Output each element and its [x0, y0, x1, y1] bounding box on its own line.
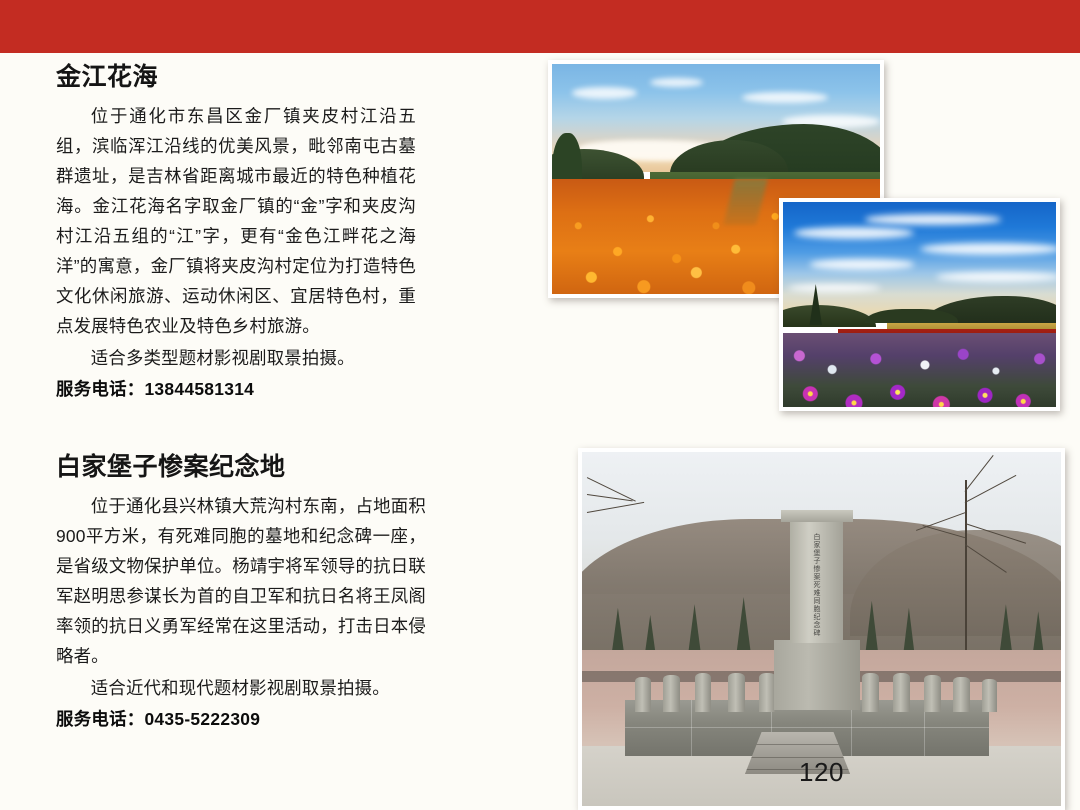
- memorial-pillar: [893, 673, 910, 712]
- photo-purple-aster-field: [779, 198, 1060, 411]
- photo-monument-canvas: 白家堡子惨案死难同胞纪念碑: [582, 452, 1061, 806]
- step-edge: [748, 757, 847, 758]
- cloud-wisp: [572, 87, 638, 99]
- memorial-pillar: [695, 673, 712, 712]
- cloud-wisp: [742, 92, 827, 104]
- cloud-wisp: [936, 272, 1056, 282]
- memorial-pillar: [924, 675, 940, 712]
- memorial-pillar: [635, 677, 651, 712]
- memorial-pillar: [953, 677, 969, 712]
- monument-steps: [745, 732, 850, 774]
- section-paragraph-baijiabaozi: 位于通化县兴林镇大荒沟村东南，占地面积900平方米，有死难同胞的墓地和纪念碑一座…: [56, 492, 426, 672]
- cloud-wisp: [650, 78, 702, 87]
- memorial-pillar: [862, 673, 879, 712]
- section-paragraph-jinjianghuahai: 位于通化市东昌区金厂镇夹皮村江沿五组，滨临浑江沿线的优美风景，毗邻南屯古墓群遗址…: [56, 102, 416, 342]
- purple-aster-field: [783, 333, 1056, 407]
- bare-tree-trunk: [965, 480, 967, 664]
- memorial-pillar: [728, 673, 745, 712]
- cloud-wisp: [794, 227, 914, 239]
- base-seam: [691, 700, 693, 757]
- section-phone-baijiabaozi: 服务电话：0435-5222309: [56, 705, 426, 735]
- document-page: 金江花海 位于通化市东昌区金厂镇夹皮村江沿五组，滨临浑江沿线的优美风景，毗邻南屯…: [0, 0, 1080, 810]
- monument-plinth: [774, 640, 860, 711]
- tree-left: [552, 133, 582, 184]
- monument-inscription-text: 白家堡子惨案死难同胞纪念碑: [810, 533, 820, 637]
- monument-cap: [781, 510, 853, 522]
- cloud-wisp: [810, 259, 914, 269]
- tree-line: [865, 309, 958, 323]
- section-note-baijiabaozi: 适合近代和现代题材影视剧取景拍摄。: [56, 674, 426, 704]
- memorial-pillar: [982, 679, 997, 713]
- section-title-baijiabaozi: 白家堡子惨案纪念地: [56, 452, 426, 483]
- step-edge: [751, 744, 844, 745]
- section-phone-jinjianghuahai: 服务电话：13844581314: [56, 375, 416, 405]
- section-note-jinjianghuahai: 适合多类型题材影视剧取景拍摄。: [56, 344, 416, 374]
- photo-aster-canvas: [783, 202, 1056, 407]
- step-edge: [745, 769, 850, 770]
- photo-baijiabaozi-memorial-monument: 白家堡子惨案死难同胞纪念碑: [578, 448, 1065, 810]
- memorial-pillar: [663, 675, 679, 712]
- section-title-jinjianghuahai: 金江花海: [56, 62, 416, 93]
- section-jinjianghuahai-text: 金江花海 位于通化市东昌区金厂镇夹皮村江沿五组，滨临浑江沿线的优美风景，毗邻南屯…: [56, 62, 416, 404]
- base-seam: [625, 727, 989, 729]
- cloud-wisp: [865, 214, 1002, 224]
- section-baijiabaozi-text: 白家堡子惨案纪念地 位于通化县兴林镇大荒沟村东南，占地面积900平方米，有死难同…: [56, 452, 426, 734]
- top-red-banner: [0, 0, 1080, 53]
